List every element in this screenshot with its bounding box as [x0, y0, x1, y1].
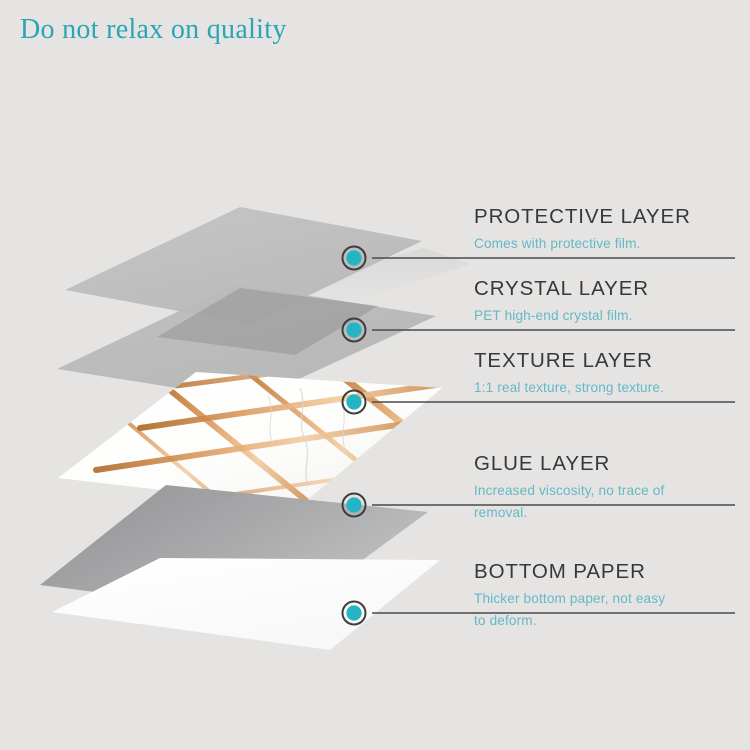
layer-diagram-stage: Do not relax on quality: [0, 0, 750, 750]
label-description-crystal-layer: PET high-end crystal film.: [474, 305, 649, 327]
description-line: Increased viscosity, no trace of: [474, 480, 664, 502]
label-title-bottom-paper: BOTTOM PAPER: [474, 561, 665, 583]
label-title-crystal-layer: CRYSTAL LAYER: [474, 278, 649, 300]
description-line: to deform.: [474, 610, 665, 632]
label-description-bottom-paper: Thicker bottom paper, not easyto deform.: [474, 588, 665, 633]
label-block-glue-layer: GLUE LAYERIncreased viscosity, no trace …: [474, 453, 664, 524]
description-line: Comes with protective film.: [474, 233, 691, 255]
description-line: Thicker bottom paper, not easy: [474, 588, 665, 610]
label-title-protective-layer: PROTECTIVE LAYER: [474, 206, 691, 228]
label-block-bottom-paper: BOTTOM PAPERThicker bottom paper, not ea…: [474, 561, 665, 632]
description-line: 1:1 real texture, strong texture.: [474, 377, 664, 399]
label-block-texture-layer: TEXTURE LAYER1:1 real texture, strong te…: [474, 350, 664, 399]
label-description-texture-layer: 1:1 real texture, strong texture.: [474, 377, 664, 399]
description-line: removal.: [474, 502, 664, 524]
label-title-glue-layer: GLUE LAYER: [474, 453, 664, 475]
label-description-glue-layer: Increased viscosity, no trace ofremoval.: [474, 480, 664, 525]
label-block-crystal-layer: CRYSTAL LAYERPET high-end crystal film.: [474, 278, 649, 327]
layer-label-column: PROTECTIVE LAYERComes with protective fi…: [0, 0, 750, 750]
label-block-protective-layer: PROTECTIVE LAYERComes with protective fi…: [474, 206, 691, 255]
description-line: PET high-end crystal film.: [474, 305, 649, 327]
label-title-texture-layer: TEXTURE LAYER: [474, 350, 664, 372]
label-description-protective-layer: Comes with protective film.: [474, 233, 691, 255]
